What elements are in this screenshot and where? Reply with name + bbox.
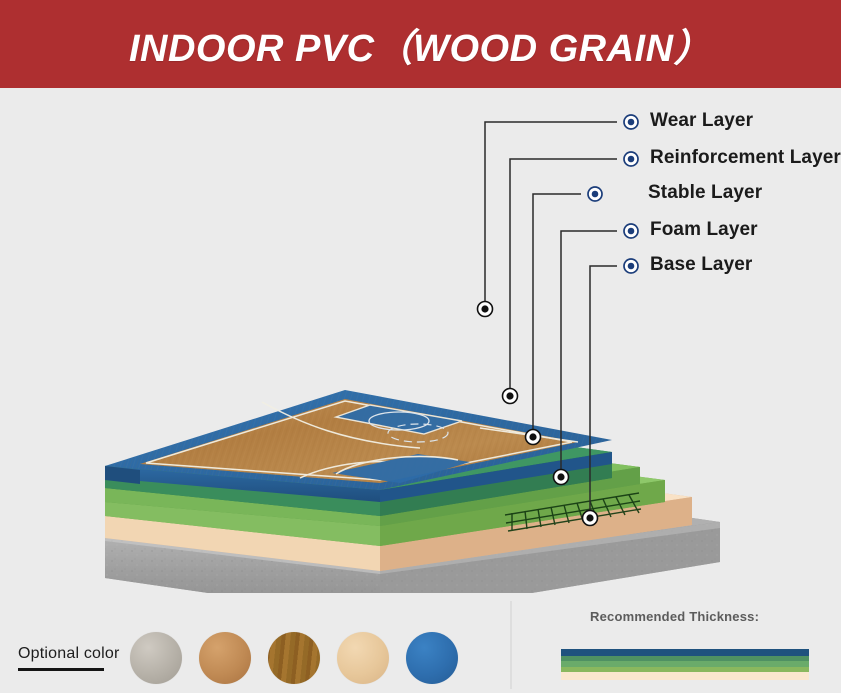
callout-label-foam-layer: Foam Layer bbox=[650, 219, 758, 241]
bullet-wear-layer bbox=[624, 115, 638, 129]
bullet-base-layer bbox=[624, 259, 638, 273]
color-swatch-light-brown[interactable] bbox=[199, 632, 251, 684]
bullet-foam-layer bbox=[624, 224, 638, 238]
optional-color-group: Optional color bbox=[18, 645, 120, 671]
color-swatch-gray[interactable] bbox=[130, 632, 182, 684]
bullet-reinforcement-layer bbox=[624, 152, 638, 166]
color-swatch-cream[interactable] bbox=[337, 632, 389, 684]
callout-label-reinforcement-layer: Reinforcement Layer bbox=[650, 147, 841, 169]
optional-color-underline bbox=[18, 668, 104, 671]
callout-bullets bbox=[588, 115, 638, 273]
section-divider bbox=[510, 601, 512, 689]
color-swatch-dark-wood[interactable] bbox=[268, 632, 320, 684]
thickness-band-wear bbox=[561, 649, 809, 656]
callout-label-stable-layer: Stable Layer bbox=[648, 182, 762, 204]
recommended-thickness-stack bbox=[561, 649, 809, 680]
color-swatch-blue[interactable] bbox=[406, 632, 458, 684]
recommended-thickness-label: Recommended Thickness: bbox=[590, 609, 759, 624]
bullet-stable-layer bbox=[588, 187, 602, 201]
thickness-band-base bbox=[561, 672, 809, 680]
callout-label-base-layer: Base Layer bbox=[650, 254, 752, 276]
diagram-stage: Wear Layer Reinforcement Layer Stable La… bbox=[0, 88, 841, 593]
page-header: INDOOR PVC（WOOD GRAIN） bbox=[0, 0, 841, 88]
leader-wear-layer bbox=[485, 122, 617, 309]
callout-label-wear-layer: Wear Layer bbox=[650, 110, 753, 132]
optional-color-label: Optional color bbox=[18, 645, 120, 666]
page-title: INDOOR PVC（WOOD GRAIN） bbox=[129, 17, 712, 72]
